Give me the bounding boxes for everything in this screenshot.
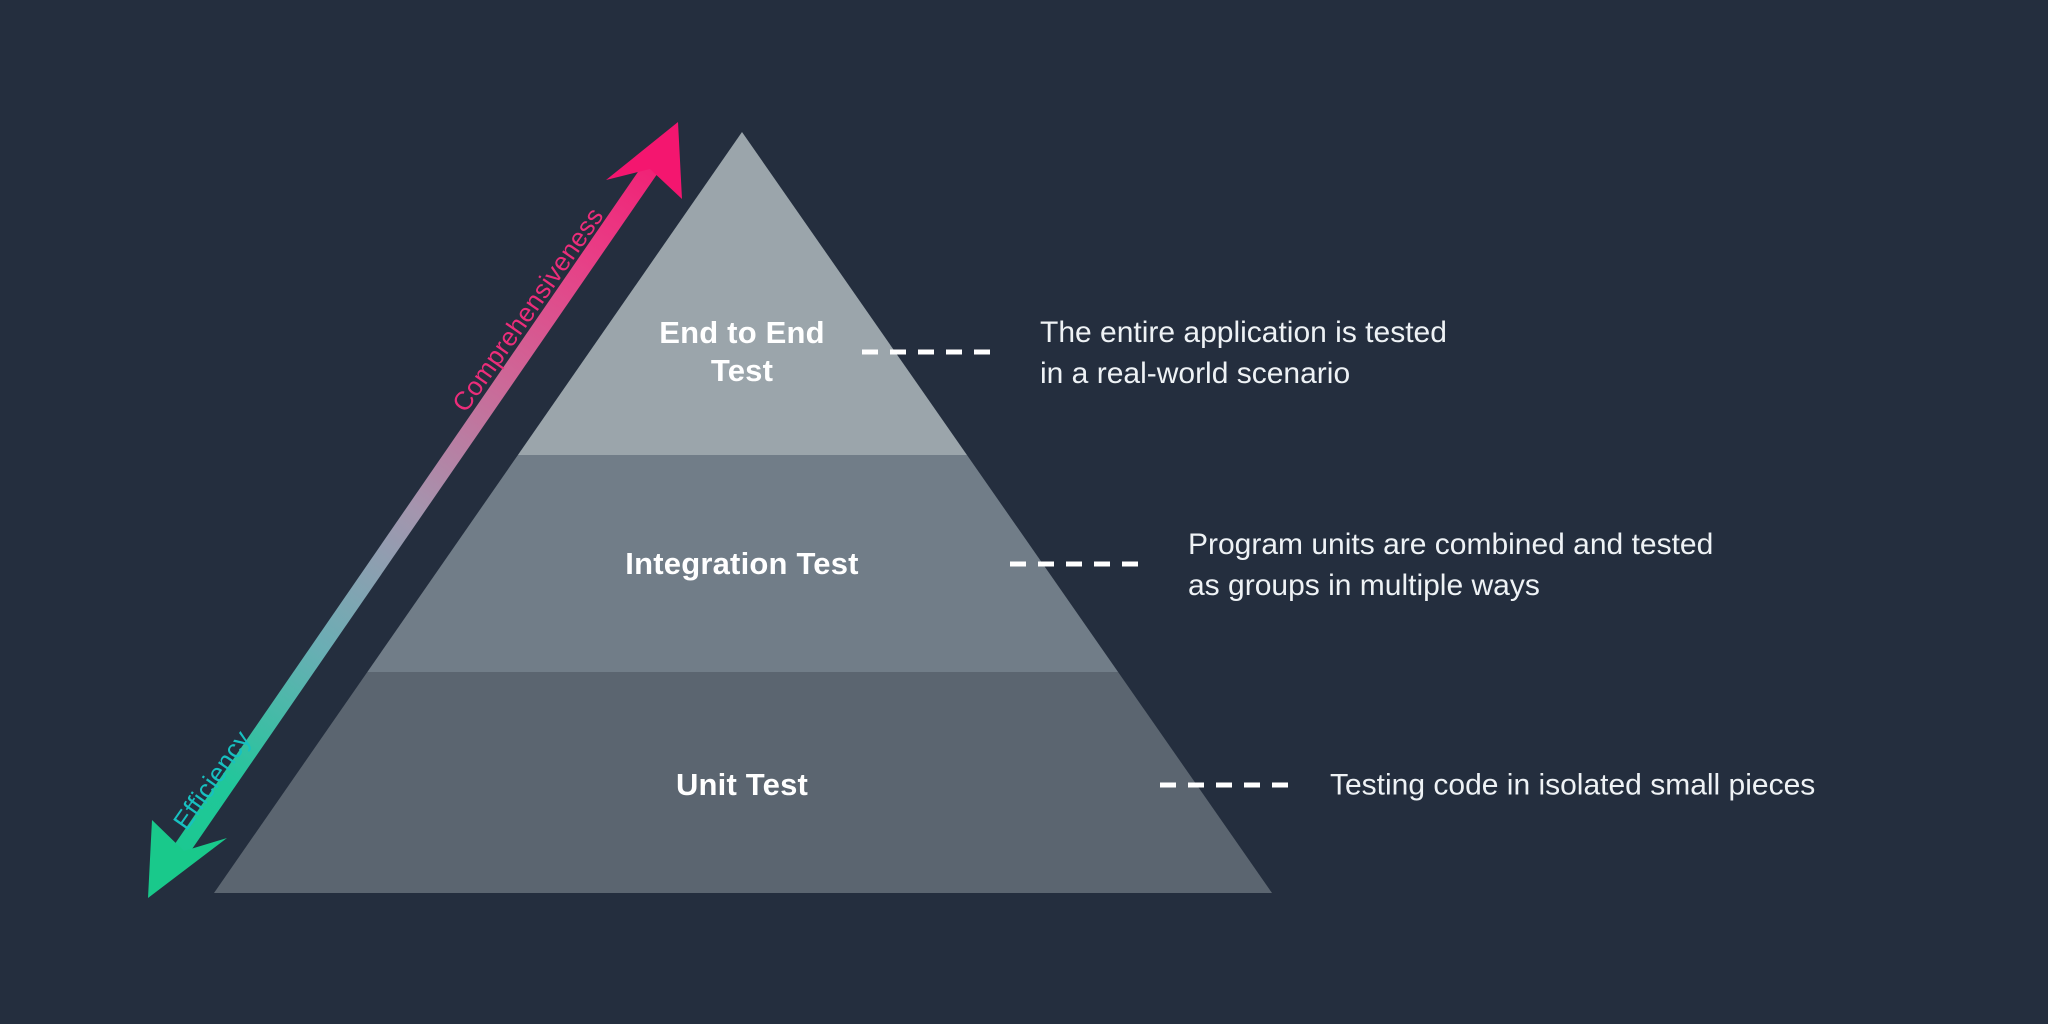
tier-description-end-to-end: The entire application is tested in a re… — [1040, 313, 1447, 395]
tier-description-unit: Testing code in isolated small pieces — [1330, 766, 1815, 807]
pyramid-diagram-svg — [0, 0, 2048, 1024]
tier-description-integration: Program units are combined and tested as… — [1188, 525, 1713, 607]
diagram-canvas: End to End Test Integration Test Unit Te… — [0, 0, 2048, 1024]
pyramid-shape — [214, 132, 1272, 893]
